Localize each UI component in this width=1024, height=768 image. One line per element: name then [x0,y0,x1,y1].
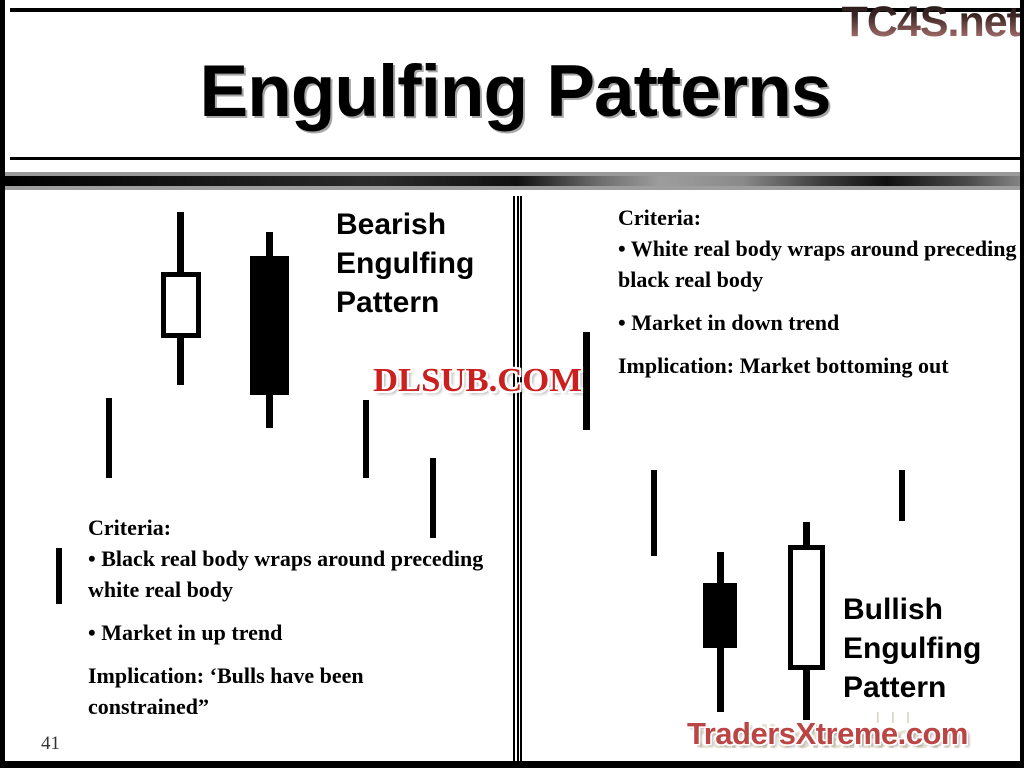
page-number: 41 [41,733,60,755]
panel-divider [513,196,522,761]
bullish-criteria-block: Criteria: • White real body wraps around… [618,202,1024,381]
spacer [618,295,1024,307]
header-divider-bar [5,172,1024,190]
chart-bar-0 [106,398,112,478]
bearish-criteria-heading: Criteria: [88,512,488,543]
chart-bar-3 [363,400,369,478]
black-candle-body [703,583,737,648]
watermark-tradersxtreme: TradersXtreme.com [687,716,968,752]
bullish-pattern-label: Bullish Engulfing Pattern [843,590,981,707]
bearish-criteria-bullet-0: • Black real body wraps around preceding… [88,543,488,605]
chart-bar-1 [651,470,657,556]
page-title: Engulfing Patterns [10,50,1020,133]
header-divider-sheen [5,176,1024,186]
bearish-implication: Implication: ‘Bulls have been constraine… [88,660,488,722]
spacer [88,648,488,660]
watermark-dlsub: DLSUB.COM [373,362,582,400]
bearish-pattern-label: Bearish Engulfing Pattern [336,205,474,322]
bullish-criteria-bullet-1: • Market in down trend [618,307,1024,338]
watermark-tc4s: TC4S.net [842,0,1020,47]
chart-bar-0 [583,332,590,430]
chart-bar-5 [56,548,62,604]
bullish-implication: Implication: Market bottoming out [618,350,1024,381]
chart-bar-4 [899,470,905,521]
white-candle-body [161,272,201,338]
bearish-criteria-bullet-1: • Market in up trend [88,617,488,648]
slide-canvas: Engulfing Patterns TC4S.net Bearish Engu… [0,0,1024,768]
bullish-criteria-heading: Criteria: [618,202,1024,233]
white-candle-body [788,545,825,670]
spacer [618,338,1024,350]
spacer [88,605,488,617]
bearish-criteria-block: Criteria: • Black real body wraps around… [88,512,488,722]
black-candle-body [250,256,289,395]
bullish-criteria-bullet-0: • White real body wraps around preceding… [618,233,1024,295]
